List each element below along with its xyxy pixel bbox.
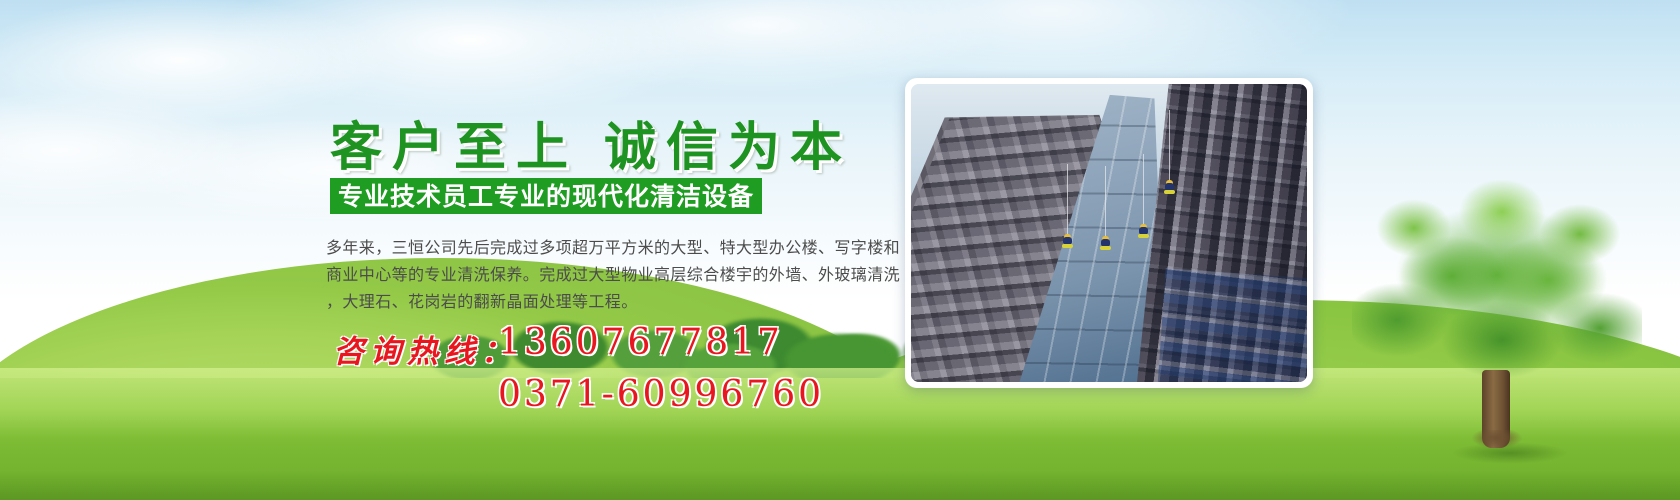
tree-roots [1464, 430, 1530, 454]
subtitle-green-bar: 专业技术员工专业的现代化清洁设备 [330, 178, 762, 214]
description-line-3: ，大理石、花岗岩的翻新晶面处理等工程。 [326, 288, 886, 315]
promo-banner: 客户至上诚信为本 专业技术员工专业的现代化清洁设备 多年来，三恒公司先后完成过多… [0, 0, 1680, 500]
rope-access-worker [1137, 224, 1150, 239]
banner-description: 多年来，三恒公司先后完成过多项超万平方米的大型、特大型办公楼、写字楼和 商业中心… [326, 234, 886, 315]
worker-rope [1105, 166, 1106, 238]
worker-seat [1100, 246, 1111, 250]
hotline-mobile-number[interactable]: 13607677817 [498, 322, 783, 363]
hotline-block: 咨询热线： 13607677817 0371-60996760 [330, 322, 930, 432]
building-photo-card [905, 78, 1313, 388]
headline-part-1: 客户至上 [330, 117, 578, 178]
hotline-label: 咨询热线： [333, 326, 518, 371]
worker-rope [1067, 164, 1068, 236]
worker-seat [1164, 190, 1175, 194]
worker-seat [1138, 234, 1149, 238]
worker-rope [1143, 154, 1144, 226]
description-line-2: 商业中心等的专业清洗保养。完成过大型物业高层综合楼宇的外墙、外玻璃清洗 [326, 261, 886, 288]
description-line-1: 多年来，三恒公司先后完成过多项超万平方米的大型、特大型办公楼、写字楼和 [326, 234, 886, 261]
worker-rope [1169, 110, 1170, 182]
building-photo [911, 84, 1307, 382]
tree-illustration [1352, 180, 1642, 470]
worker-seat [1062, 244, 1073, 248]
tree-canopy [1352, 180, 1642, 395]
rope-access-worker [1163, 180, 1176, 195]
rope-access-worker [1099, 236, 1112, 251]
headline-part-2: 诚信为本 [604, 117, 852, 178]
banner-headline: 客户至上诚信为本 [330, 105, 890, 180]
hotline-landline-number[interactable]: 0371-60996760 [498, 374, 824, 415]
photo-tower-blue-glass [1157, 268, 1307, 382]
rope-access-worker [1061, 234, 1074, 249]
subtitle-text: 专业技术员工专业的现代化清洁设备 [338, 184, 754, 209]
